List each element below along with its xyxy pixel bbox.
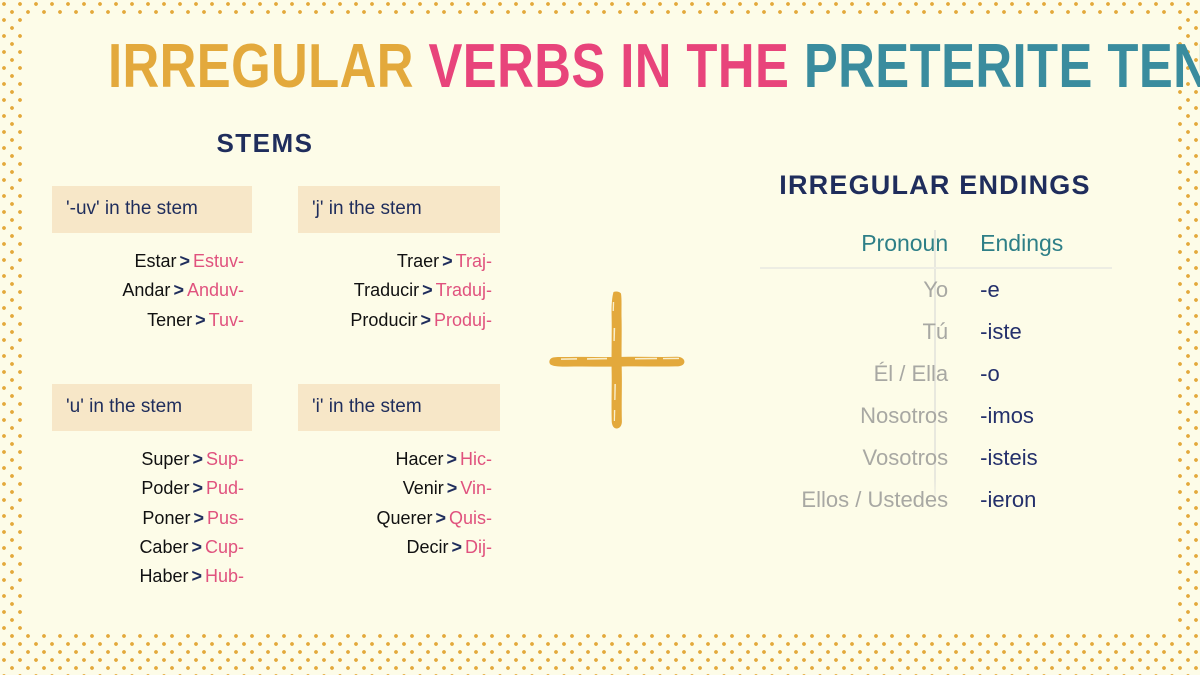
stem-card-header: 'i' in the stem: [298, 384, 500, 431]
verb-infinitive: Tener: [147, 310, 192, 330]
stem-card-j: 'j' in the stem Traer>Traj- Traducir>Tra…: [298, 186, 500, 335]
table-row: Ellos / Ustedes -ieron: [760, 479, 1112, 521]
endings-heading: IRREGULAR ENDINGS: [700, 170, 1170, 201]
poster-content: IRREGULAR VERBS IN THE PRETERITE TENSE S…: [0, 0, 1200, 675]
verb-infinitive: Venir: [403, 478, 444, 498]
verb-infinitive: Hacer: [395, 449, 443, 469]
verb-infinitive: Super: [141, 449, 189, 469]
verb-stem: Sup-: [206, 449, 244, 469]
table-row: Yo -e: [760, 268, 1112, 311]
table-row: Tú -iste: [760, 311, 1112, 353]
table-header-row: Pronoun Endings: [760, 228, 1112, 268]
verb-stem: Dij-: [465, 537, 492, 557]
verb-stem: Hub-: [205, 566, 244, 586]
verb-row: Haber>Hub-: [52, 562, 244, 591]
verb-row: Traducir>Traduj-: [298, 276, 492, 305]
ending-cell: -o: [964, 353, 1112, 395]
verb-separator: >: [188, 537, 205, 557]
verb-separator: >: [443, 449, 460, 469]
verb-row: Caber>Cup-: [52, 533, 244, 562]
verb-stem: Vin-: [460, 478, 492, 498]
verb-stem: Traj-: [456, 251, 492, 271]
verb-list: Hacer>Hic- Venir>Vin- Querer>Quis- Decir…: [298, 445, 500, 562]
column-header-endings: Endings: [964, 228, 1112, 268]
stems-heading: STEMS: [180, 128, 350, 159]
verb-separator: >: [419, 280, 436, 300]
title-part-preterite-tense: PRETERITE TENSE: [804, 32, 1200, 101]
verb-list: Estar>Estuv- Andar>Anduv- Tener>Tuv-: [52, 247, 252, 335]
table-row: Nosotros -imos: [760, 395, 1112, 437]
verb-row: Hacer>Hic-: [298, 445, 492, 474]
verb-row: Venir>Vin-: [298, 474, 492, 503]
verb-infinitive: Decir: [406, 537, 448, 557]
pronoun-cell: Él / Ella: [760, 353, 964, 395]
verb-infinitive: Caber: [139, 537, 188, 557]
pronoun-cell: Vosotros: [760, 437, 964, 479]
verb-infinitive: Traer: [397, 251, 439, 271]
title-part-verbs-in-the: VERBS IN THE: [428, 32, 789, 101]
ending-cell: -e: [964, 268, 1112, 311]
verb-stem: Anduv-: [187, 280, 244, 300]
stem-card-header: 'u' in the stem: [52, 384, 252, 431]
verb-separator: >: [439, 251, 456, 271]
stem-card-header: 'j' in the stem: [298, 186, 500, 233]
verb-separator: >: [188, 566, 205, 586]
stem-card-uv: '-uv' in the stem Estar>Estuv- Andar>And…: [52, 186, 252, 335]
verb-separator: >: [432, 508, 449, 528]
pronoun-cell: Tú: [760, 311, 964, 353]
verb-stem: Hic-: [460, 449, 492, 469]
column-header-pronoun: Pronoun: [760, 228, 964, 268]
verb-separator: >: [417, 310, 434, 330]
ending-cell: -iste: [964, 311, 1112, 353]
verb-row: Producir>Produj-: [298, 306, 492, 335]
verb-separator: >: [189, 478, 206, 498]
endings-table: Pronoun Endings Yo -e Tú -iste Él / Ella…: [760, 228, 1112, 521]
verb-infinitive: Estar: [134, 251, 176, 271]
verb-separator: >: [190, 508, 207, 528]
verb-row: Super>Sup-: [52, 445, 244, 474]
pronoun-cell: Nosotros: [760, 395, 964, 437]
verb-infinitive: Producir: [350, 310, 417, 330]
pronoun-cell: Ellos / Ustedes: [760, 479, 964, 521]
verb-separator: >: [189, 449, 206, 469]
ending-cell: -imos: [964, 395, 1112, 437]
verb-row: Andar>Anduv-: [52, 276, 244, 305]
verb-row: Traer>Traj-: [298, 247, 492, 276]
verb-stem: Cup-: [205, 537, 244, 557]
plus-icon: [543, 288, 691, 436]
verb-infinitive: Andar: [122, 280, 170, 300]
page-title: IRREGULAR VERBS IN THE PRETERITE TENSE: [108, 36, 1092, 98]
verb-row: Querer>Quis-: [298, 504, 492, 533]
verb-infinitive: Poder: [141, 478, 189, 498]
verb-stem: Tuv-: [209, 310, 244, 330]
stem-card-u: 'u' in the stem Super>Sup- Poder>Pud- Po…: [52, 384, 252, 592]
verb-separator: >: [448, 537, 465, 557]
verb-infinitive: Querer: [376, 508, 432, 528]
verb-infinitive: Traducir: [354, 280, 419, 300]
verb-stem: Quis-: [449, 508, 492, 528]
verb-stem: Pud-: [206, 478, 244, 498]
verb-row: Poder>Pud-: [52, 474, 244, 503]
verb-list: Super>Sup- Poder>Pud- Poner>Pus- Caber>C…: [52, 445, 252, 592]
verb-infinitive: Poner: [142, 508, 190, 528]
stem-card-header: '-uv' in the stem: [52, 186, 252, 233]
ending-cell: -isteis: [964, 437, 1112, 479]
stem-card-i: 'i' in the stem Hacer>Hic- Venir>Vin- Qu…: [298, 384, 500, 562]
verb-separator: >: [176, 251, 193, 271]
ending-cell: -ieron: [964, 479, 1112, 521]
verb-row: Tener>Tuv-: [52, 306, 244, 335]
title-part-irregular: IRREGULAR: [108, 32, 414, 101]
verb-list: Traer>Traj- Traducir>Traduj- Producir>Pr…: [298, 247, 500, 335]
pronoun-cell: Yo: [760, 268, 964, 311]
table-row: Él / Ella -o: [760, 353, 1112, 395]
verb-stem: Pus-: [207, 508, 244, 528]
verb-row: Poner>Pus-: [52, 504, 244, 533]
verb-separator: >: [192, 310, 209, 330]
verb-stem: Estuv-: [193, 251, 244, 271]
verb-stem: Traduj-: [436, 280, 492, 300]
verb-row: Decir>Dij-: [298, 533, 492, 562]
verb-stem: Produj-: [434, 310, 492, 330]
verb-separator: >: [444, 478, 461, 498]
verb-separator: >: [170, 280, 187, 300]
table-row: Vosotros -isteis: [760, 437, 1112, 479]
verb-infinitive: Haber: [139, 566, 188, 586]
verb-row: Estar>Estuv-: [52, 247, 244, 276]
